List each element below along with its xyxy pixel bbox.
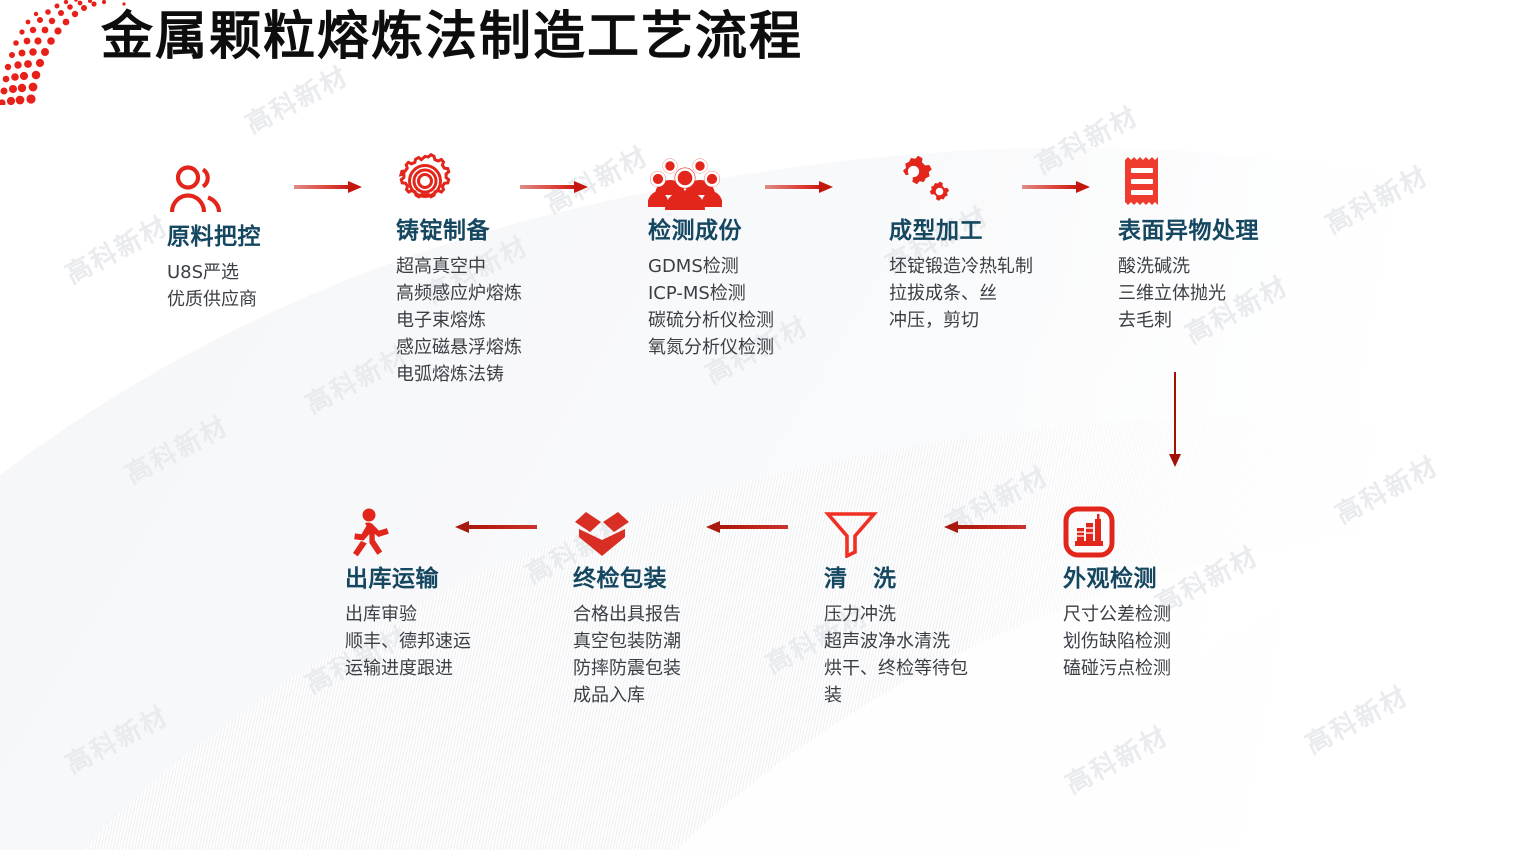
flow-step-appearance-inspection[interactable]: 外观检测 尺寸公差检测 划伤缺陷检测 磕碰污点检测 (1063, 500, 1171, 682)
watermark-layer: 高科新材 高科新材 高科新材 高科新材 高科新材 高科新材 高科新材 高科新材 … (0, 0, 1531, 850)
bullet-line: 压力冲洗 (824, 601, 974, 628)
background-right-fade (971, 0, 1531, 850)
step-bullets: 出库审验 顺丰、德邦速运 运输进度跟进 (345, 601, 471, 682)
people-group-icon (648, 152, 774, 210)
flow-step-raw-material-control[interactable]: 原料把控 U8S严选 优质供应商 (167, 158, 261, 313)
bullet-line: 氧氮分析仪检测 (648, 334, 774, 361)
bullet-line: 感应磁悬浮熔炼 (396, 334, 522, 361)
flow-step-surface-treatment[interactable]: 表面异物处理 酸洗碱洗 三维立体抛光 去毛刺 (1118, 152, 1259, 334)
step-bullets: 尺寸公差检测 划伤缺陷检测 磕碰污点检测 (1063, 601, 1171, 682)
step-bullets: 坯锭锻造冷热轧制 拉拔成条、丝 冲压，剪切 (889, 253, 1033, 334)
watermark-text: 高科新材 (1328, 446, 1444, 531)
watermark-text: 高科新材 (118, 406, 234, 491)
step-title: 终检包装 (573, 564, 681, 594)
bullet-line: 高频感应炉熔炼 (396, 280, 522, 307)
bullet-line: 去毛刺 (1118, 307, 1259, 334)
walking-person-icon (345, 500, 471, 558)
receipt-lines-icon (1118, 152, 1259, 210)
bullet-line: 拉拔成条、丝 (889, 280, 1033, 307)
open-box-icon (573, 500, 681, 558)
bullet-line: GDMS检测 (648, 253, 774, 280)
background-decoration (0, 0, 1531, 850)
bullet-line: 碳硫分析仪检测 (648, 307, 774, 334)
bullet-line: 冲压，剪切 (889, 307, 1033, 334)
watermark-text: 高科新材 (238, 56, 354, 141)
step-title: 外观检测 (1063, 564, 1171, 594)
bullet-line: 烘干、终检等待包装 (824, 655, 974, 709)
bullet-line: 出库审验 (345, 601, 471, 628)
step-title: 原料把控 (167, 222, 261, 252)
bullet-line: 成品入库 (573, 682, 681, 709)
bullet-line: 三维立体抛光 (1118, 280, 1259, 307)
step-bullets: 超高真空中 高频感应炉熔炼 电子束熔炼 感应磁悬浮熔炼 电弧熔炼法铸 (396, 253, 522, 388)
two-people-outline-icon (167, 158, 261, 216)
watermark-text: 高科新材 (58, 696, 174, 781)
flow-step-cleaning[interactable]: 清洗 压力冲洗 超声波净水清洗 烘干、终检等待包装 (824, 500, 974, 709)
flow-step-ingot-preparation[interactable]: 铸锭制备 超高真空中 高频感应炉熔炼 电子束熔炼 感应磁悬浮熔炼 电弧熔炼法铸 (396, 152, 522, 388)
flow-step-forming-processing[interactable]: 成型加工 坯锭锻造冷热轧制 拉拔成条、丝 冲压，剪切 (889, 152, 1033, 334)
arrow-step4-to-step5 (1022, 181, 1090, 193)
bullet-line: 坯锭锻造冷热轧制 (889, 253, 1033, 280)
arrow-step7-to-step8 (706, 521, 788, 533)
watermark-text: 高科新材 (58, 206, 174, 291)
bullet-line: 优质供应商 (167, 286, 261, 313)
funnel-outline-icon (824, 500, 974, 558)
bullet-line: 电弧熔炼法铸 (396, 361, 522, 388)
step-bullets: GDMS检测 ICP-MS检测 碳硫分析仪检测 氧氮分析仪检测 (648, 253, 774, 361)
slide-canvas: 高科新材 高科新材 高科新材 高科新材 高科新材 高科新材 高科新材 高科新材 … (0, 0, 1531, 850)
two-gears-icon (889, 152, 1033, 210)
background-swoosh-upper (0, 0, 1531, 850)
bullet-line: 磕碰污点检测 (1063, 655, 1171, 682)
arrow-step3-to-step4 (765, 181, 833, 193)
bullet-line: 防摔防震包装 (573, 655, 681, 682)
page-title: 金属颗粒熔炼法制造工艺流程 (101, 6, 803, 68)
flow-step-final-inspection-packing[interactable]: 终检包装 合格出具报告 真空包装防潮 防摔防震包装 成品入库 (573, 500, 681, 709)
bullet-line: 电子束熔炼 (396, 307, 522, 334)
watermark-text: 高科新材 (1298, 676, 1414, 761)
bullet-line: 顺丰、德邦速运 (345, 628, 471, 655)
step-title: 表面异物处理 (1118, 216, 1259, 246)
arrow-step2-to-step3 (520, 181, 588, 193)
arrow-step1-to-step2 (294, 181, 362, 193)
arrow-step5-down-to-step6 (1169, 372, 1181, 467)
flow-step-composition-test[interactable]: 检测成份 GDMS检测 ICP-MS检测 碳硫分析仪检测 氧氮分析仪检测 (648, 152, 774, 361)
step-bullets: 合格出具报告 真空包装防潮 防摔防震包装 成品入库 (573, 601, 681, 709)
factory-badge-icon (1063, 500, 1171, 558)
bullet-line: 运输进度跟进 (345, 655, 471, 682)
bullet-line: ICP-MS检测 (648, 280, 774, 307)
flow-step-outbound-shipping[interactable]: 出库运输 出库审验 顺丰、德邦速运 运输进度跟进 (345, 500, 471, 682)
step-title: 清洗 (824, 564, 974, 594)
watermark-text: 高科新材 (538, 136, 654, 221)
bullet-line: 超声波净水清洗 (824, 628, 974, 655)
watermark-text: 高科新材 (1318, 156, 1434, 241)
step-title: 铸锭制备 (396, 216, 522, 246)
watermark-text: 高科新材 (1058, 716, 1174, 801)
bullet-line: U8S严选 (167, 259, 261, 286)
step-bullets: 压力冲洗 超声波净水清洗 烘干、终检等待包装 (824, 601, 974, 709)
step-title: 检测成份 (648, 216, 774, 246)
bullet-line: 合格出具报告 (573, 601, 681, 628)
step-bullets: 酸洗碱洗 三维立体抛光 去毛刺 (1118, 253, 1259, 334)
bullet-line: 酸洗碱洗 (1118, 253, 1259, 280)
bullet-line: 真空包装防潮 (573, 628, 681, 655)
gear-concentric-icon (396, 152, 522, 210)
bullet-line: 超高真空中 (396, 253, 522, 280)
bullet-line: 尺寸公差检测 (1063, 601, 1171, 628)
bullet-line: 划伤缺陷检测 (1063, 628, 1171, 655)
step-bullets: U8S严选 优质供应商 (167, 259, 261, 313)
step-title: 成型加工 (889, 216, 1033, 246)
step-title: 出库运输 (345, 564, 471, 594)
